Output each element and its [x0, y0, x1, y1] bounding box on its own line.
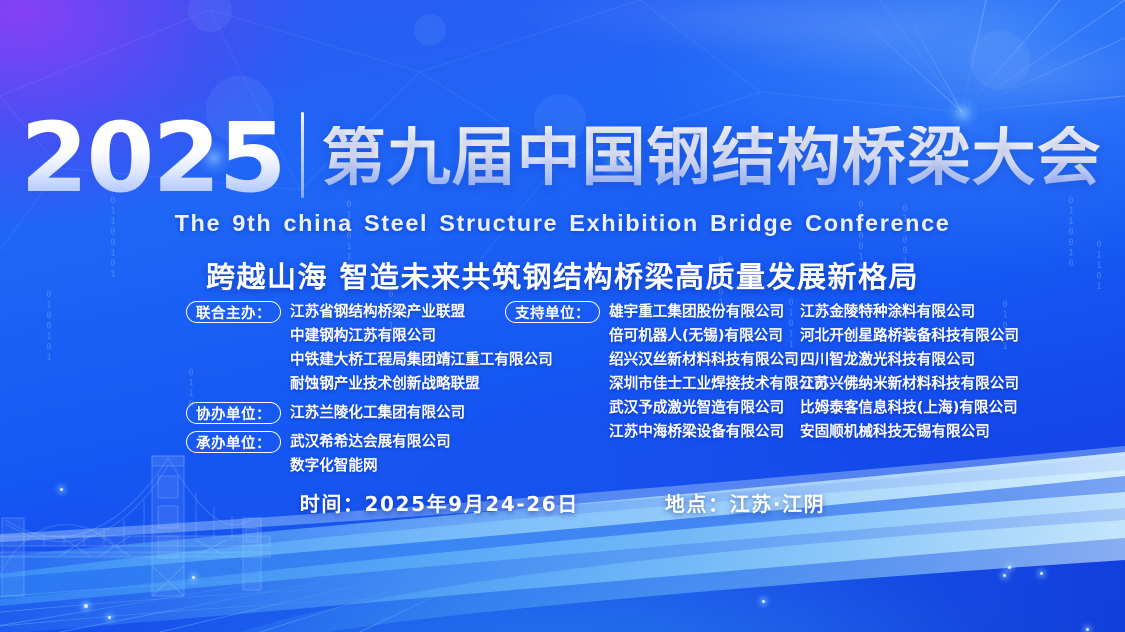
organizer-label-pill: 协办单位： — [186, 402, 281, 424]
organizers-section: 联合主办： 江苏省钢结构桥梁产业联盟 中建钢构江苏有限公司 中铁建大桥工程局集团… — [0, 300, 1125, 445]
organizer-label-pill: 联合主办： — [186, 301, 281, 323]
organizer-column-middle: 支持单位： 雄宇重工集团股份有限公司 倍可机器人(无锡)有限公司 绍兴汉丝新材料… — [505, 300, 805, 444]
organizer-column-right: 江苏金陵特种涂料有限公司 河北开创星路桥装备科技有限公司 四川智龙激光科技有限公… — [800, 300, 1030, 444]
title-main-row: 2025 第九届中国钢结构桥梁大会 — [0, 112, 1125, 204]
supporter-name: 绍兴汉丝新材料科技有限公司 — [609, 348, 828, 372]
supporter-name: 雄宇重工集团股份有限公司 — [609, 300, 828, 324]
year-logo: 2025 — [21, 114, 300, 202]
supporter-name: 四川智龙激光科技有限公司 — [800, 348, 1030, 372]
event-date: 时间：2025年9月24-26日 — [300, 488, 579, 517]
organizer-name-list: 武汉希希达会展有限公司 数字化智能网 — [290, 430, 486, 478]
supporter-label-pill: 支持单位： — [505, 301, 600, 323]
supporter-name: 比姆泰客信息科技(上海)有限公司 — [800, 396, 1030, 420]
conference-banner: 0100101 01100101 0110 0100110 01011 0110… — [0, 0, 1125, 632]
supporter-name: 河北开创星路桥装备科技有限公司 — [800, 324, 1030, 348]
supporter-name: 江苏兴佛纳米新材料科技有限公司 — [800, 372, 1030, 396]
supporter-name: 倍可机器人(无锡)有限公司 — [609, 324, 828, 348]
organizer-group: 协办单位： 江苏兰陵化工集团有限公司 — [186, 401, 486, 425]
event-meta: 时间：2025年9月24-26日 地点：江苏·江阴 — [0, 488, 1125, 517]
supporter-name: 深圳市佳士工业焊接技术有限公司 — [609, 372, 828, 396]
conference-title-cn: 第九届中国钢结构桥梁大会 — [322, 126, 1102, 190]
conference-slogan: 跨越山海 智造未来共筑钢结构桥梁高质量发展新格局 — [0, 254, 1125, 296]
organizer-group: 联合主办： 江苏省钢结构桥梁产业联盟 中建钢构江苏有限公司 中铁建大桥工程局集团… — [186, 300, 486, 396]
supporter-name: 江苏中海桥梁设备有限公司 — [609, 420, 828, 444]
organizer-name: 数字化智能网 — [290, 454, 486, 478]
title-block: 2025 第九届中国钢结构桥梁大会 The 9th china Steel St… — [0, 112, 1125, 296]
organizer-name-list: 江苏兰陵化工集团有限公司 — [290, 401, 486, 425]
organizer-group: 承办单位： 武汉希希达会展有限公司 数字化智能网 — [186, 430, 486, 478]
organizer-name: 武汉希希达会展有限公司 — [290, 430, 486, 454]
supporter-name-list: 雄宇重工集团股份有限公司 倍可机器人(无锡)有限公司 绍兴汉丝新材料科技有限公司… — [609, 300, 828, 444]
organizer-name: 江苏兰陵化工集团有限公司 — [290, 401, 486, 425]
organizer-column-left: 联合主办： 江苏省钢结构桥梁产业联盟 中建钢构江苏有限公司 中铁建大桥工程局集团… — [186, 300, 486, 478]
event-location: 地点：江苏·江阴 — [665, 488, 825, 517]
organizer-group: 支持单位： 雄宇重工集团股份有限公司 倍可机器人(无锡)有限公司 绍兴汉丝新材料… — [505, 300, 805, 444]
supporter-name: 武汉予成激光智造有限公司 — [609, 396, 828, 420]
supporter-name-list-overflow: 江苏金陵特种涂料有限公司 河北开创星路桥装备科技有限公司 四川智龙激光科技有限公… — [800, 300, 1030, 444]
supporter-name: 江苏金陵特种涂料有限公司 — [800, 300, 1030, 324]
conference-title-en: The 9th china Steel Structure Exhibition… — [0, 210, 1125, 237]
organizer-label-pill: 承办单位： — [186, 431, 281, 453]
supporter-name: 安固顺机械科技无锡有限公司 — [800, 420, 1030, 444]
title-divider — [301, 112, 304, 198]
